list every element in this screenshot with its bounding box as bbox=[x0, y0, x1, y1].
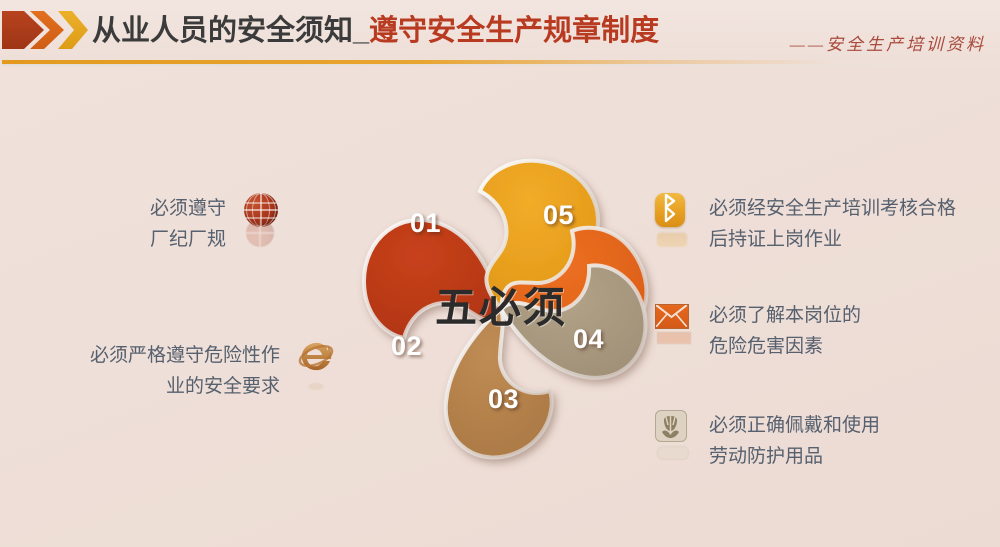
callout-line-2: 危险危害因素 bbox=[709, 331, 861, 362]
callout-line-1: 必须经安全生产培训考核合格 bbox=[709, 193, 956, 224]
bluetooth-icon bbox=[655, 193, 691, 229]
header-divider-shadow bbox=[2, 64, 998, 66]
page-title-secondary: 遵守安全生产规章制度 bbox=[369, 15, 659, 47]
slide-header: 从业人员的安全须知_遵守安全生产规章制度 ——安全生产培训资料 bbox=[0, 0, 1000, 64]
ie-icon-reflection bbox=[300, 378, 332, 394]
callout-line-2: 业的安全要求 bbox=[90, 371, 280, 402]
callout-line-2: 厂纪厂规 bbox=[150, 224, 226, 255]
envelope-icon bbox=[655, 300, 691, 336]
petal-number-01: 01 bbox=[410, 208, 441, 239]
callout-training-certified[interactable]: 必须经安全生产培训考核合格 后持证上岗作业 bbox=[655, 193, 956, 255]
petal-number-03: 03 bbox=[488, 384, 519, 415]
callout-text: 必须了解本岗位的 危险危害因素 bbox=[709, 300, 861, 362]
page-title: 从业人员的安全须知_遵守安全生产规章制度 bbox=[92, 9, 659, 53]
triple-chevron-icon bbox=[2, 9, 88, 51]
petal-number-05: 05 bbox=[543, 200, 574, 231]
bluetooth-icon-reflection bbox=[657, 231, 689, 247]
callout-text: 必须正确佩戴和使用 劳动防护用品 bbox=[709, 410, 880, 472]
callout-text: 必须经安全生产培训考核合格 后持证上岗作业 bbox=[709, 193, 956, 255]
globe-icon-reflection bbox=[246, 231, 278, 247]
callout-line-1: 必须正确佩戴和使用 bbox=[709, 410, 880, 441]
page-subtitle: ——安全生产培训资料 bbox=[790, 30, 986, 55]
callout-line-2: 后持证上岗作业 bbox=[709, 224, 956, 255]
callout-line-1: 必须遵守 bbox=[150, 193, 226, 224]
callout-text: 必须严格遵守危险性作 业的安全要求 bbox=[90, 340, 280, 402]
callout-ppe[interactable]: 必须正确佩戴和使用 劳动防护用品 bbox=[655, 410, 880, 472]
envelope-icon-reflection bbox=[657, 332, 689, 348]
callout-hazardous-work[interactable]: 必须严格遵守危险性作 业的安全要求 bbox=[90, 340, 334, 402]
callout-know-hazards[interactable]: 必须了解本岗位的 危险危害因素 bbox=[655, 300, 861, 362]
callout-text: 必须遵守 厂纪厂规 bbox=[150, 193, 226, 255]
slide-canvas: 从业人员的安全须知_遵守安全生产规章制度 ——安全生产培训资料 必须遵守 厂纪厂… bbox=[0, 0, 1000, 547]
page-title-primary: 从业人员的安全须知_ bbox=[92, 15, 369, 47]
petal-number-02: 02 bbox=[391, 331, 422, 362]
wheel-center-label: 五必须 bbox=[338, 274, 664, 335]
internet-explorer-icon bbox=[298, 340, 334, 376]
callout-must-obey-rules[interactable]: 必须遵守 厂纪厂规 bbox=[150, 193, 280, 255]
flower-icon-reflection bbox=[657, 444, 689, 460]
pinwheel-diagram: 01 05 04 03 02 五必须 bbox=[338, 146, 664, 472]
callout-line-1: 必须严格遵守危险性作 bbox=[90, 340, 280, 371]
globe-icon bbox=[244, 193, 280, 229]
callout-line-2: 劳动防护用品 bbox=[709, 441, 880, 472]
callout-line-1: 必须了解本岗位的 bbox=[709, 300, 861, 331]
flower-icon bbox=[655, 410, 691, 446]
